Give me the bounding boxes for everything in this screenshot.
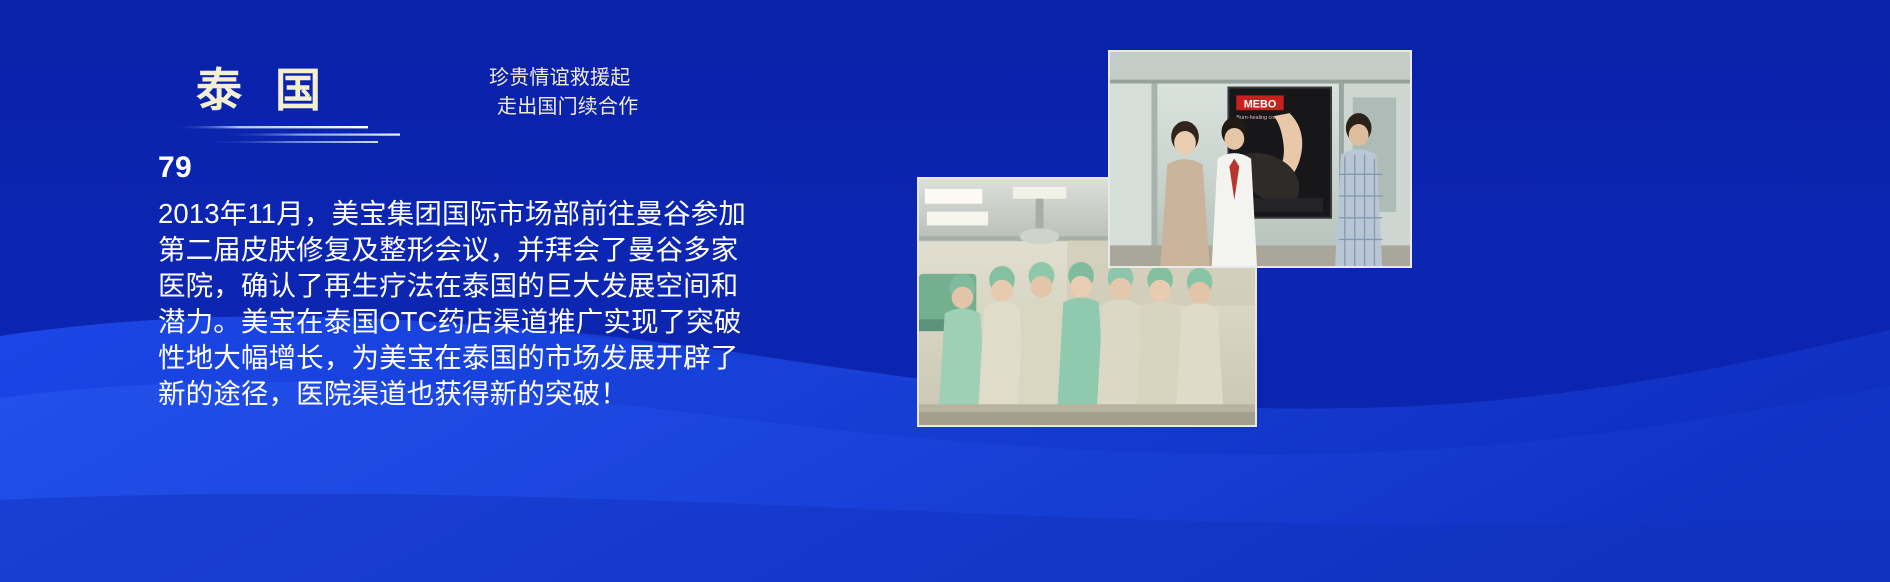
subtitle-line-1: 珍贵情谊救援起 — [489, 64, 789, 93]
body-line: 潜力。美宝在泰国OTC药店渠道推广实现了突破 — [158, 304, 826, 340]
body-line: 医院，确认了再生疗法在泰国的巨大发展空间和 — [158, 268, 826, 304]
mebo-exhibition-booth-photo: MEBO Burn-healing cream — [1108, 50, 1412, 268]
body-line: 2013年11月，美宝集团国际市场部前往曼谷参加 — [158, 196, 826, 232]
subtitle-block: 珍贵情谊救援起 走出国门续合作 — [489, 64, 789, 122]
title-underline-decoration — [160, 122, 400, 148]
page-number: 79 — [158, 153, 192, 183]
subtitle-line-2: 走出国门续合作 — [489, 93, 789, 122]
body-line: 性地大幅增长，为美宝在泰国的市场发展开辟了 — [158, 340, 826, 376]
slide-root: 泰 国 珍贵情谊救援起 走出国门续合作 79 2013年11月，美宝集团国际市场… — [0, 0, 1890, 582]
body-line: 新的途径，医院渠道也获得新的突破！ — [158, 376, 826, 412]
left-content-column: 泰 国 珍贵情谊救援起 走出国门续合作 79 2013年11月，美宝集团国际市场… — [0, 0, 880, 582]
svg-text:MEBO: MEBO — [1244, 98, 1277, 110]
body-paragraph: 2013年11月，美宝集团国际市场部前往曼谷参加 第二届皮肤修复及整形会议，并拜… — [158, 196, 826, 412]
body-line: 第二届皮肤修复及整形会议，并拜会了曼谷多家 — [158, 232, 826, 268]
